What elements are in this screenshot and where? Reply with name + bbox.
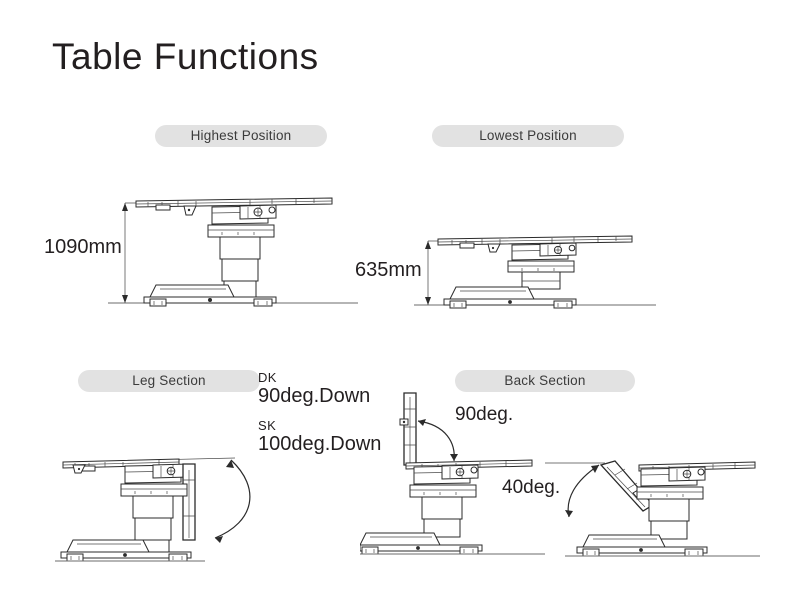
- figure-leg-section: [55, 440, 315, 565]
- section-label-lowest-position: Lowest Position: [432, 125, 624, 147]
- angle-label-leg-dk: DK 90deg.Down: [258, 371, 370, 408]
- angle-code-dk: DK: [258, 371, 370, 385]
- figure-lowest-position: [408, 225, 658, 315]
- page-title: Table Functions: [52, 36, 319, 78]
- figure-back-section-40deg: [545, 435, 760, 563]
- angle-value-dk: 90deg.Down: [258, 385, 370, 408]
- figure-back-section-90deg: [360, 385, 545, 560]
- section-label-highest-position: Highest Position: [155, 125, 327, 147]
- diagram-page: Table Functions Highest Position 1090mm: [0, 0, 800, 600]
- figure-highest-position: [100, 185, 360, 315]
- section-label-leg-section: Leg Section: [78, 370, 260, 392]
